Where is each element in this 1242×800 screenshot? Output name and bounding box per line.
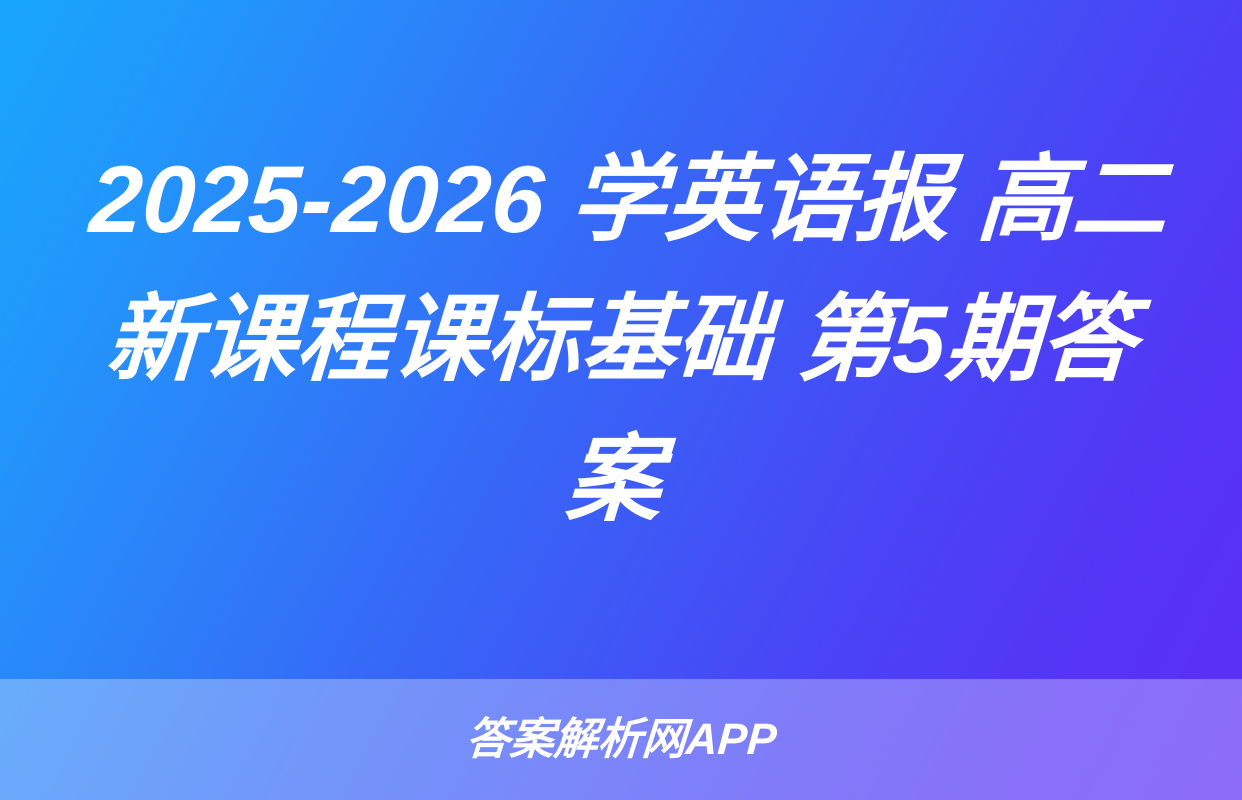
title-block: 2025-2026 学英语报 高二 新课程课标基础 第5期答案 (0, 0, 1242, 679)
page-title: 2025-2026 学英语报 高二 新课程课标基础 第5期答案 (51, 130, 1191, 550)
watermark-band: 答案解析网APP (0, 679, 1242, 800)
watermark-label: 答案解析网APP (464, 718, 778, 762)
answer-poster: 2025-2026 学英语报 高二 新课程课标基础 第5期答案 答案解析网APP (0, 0, 1242, 800)
